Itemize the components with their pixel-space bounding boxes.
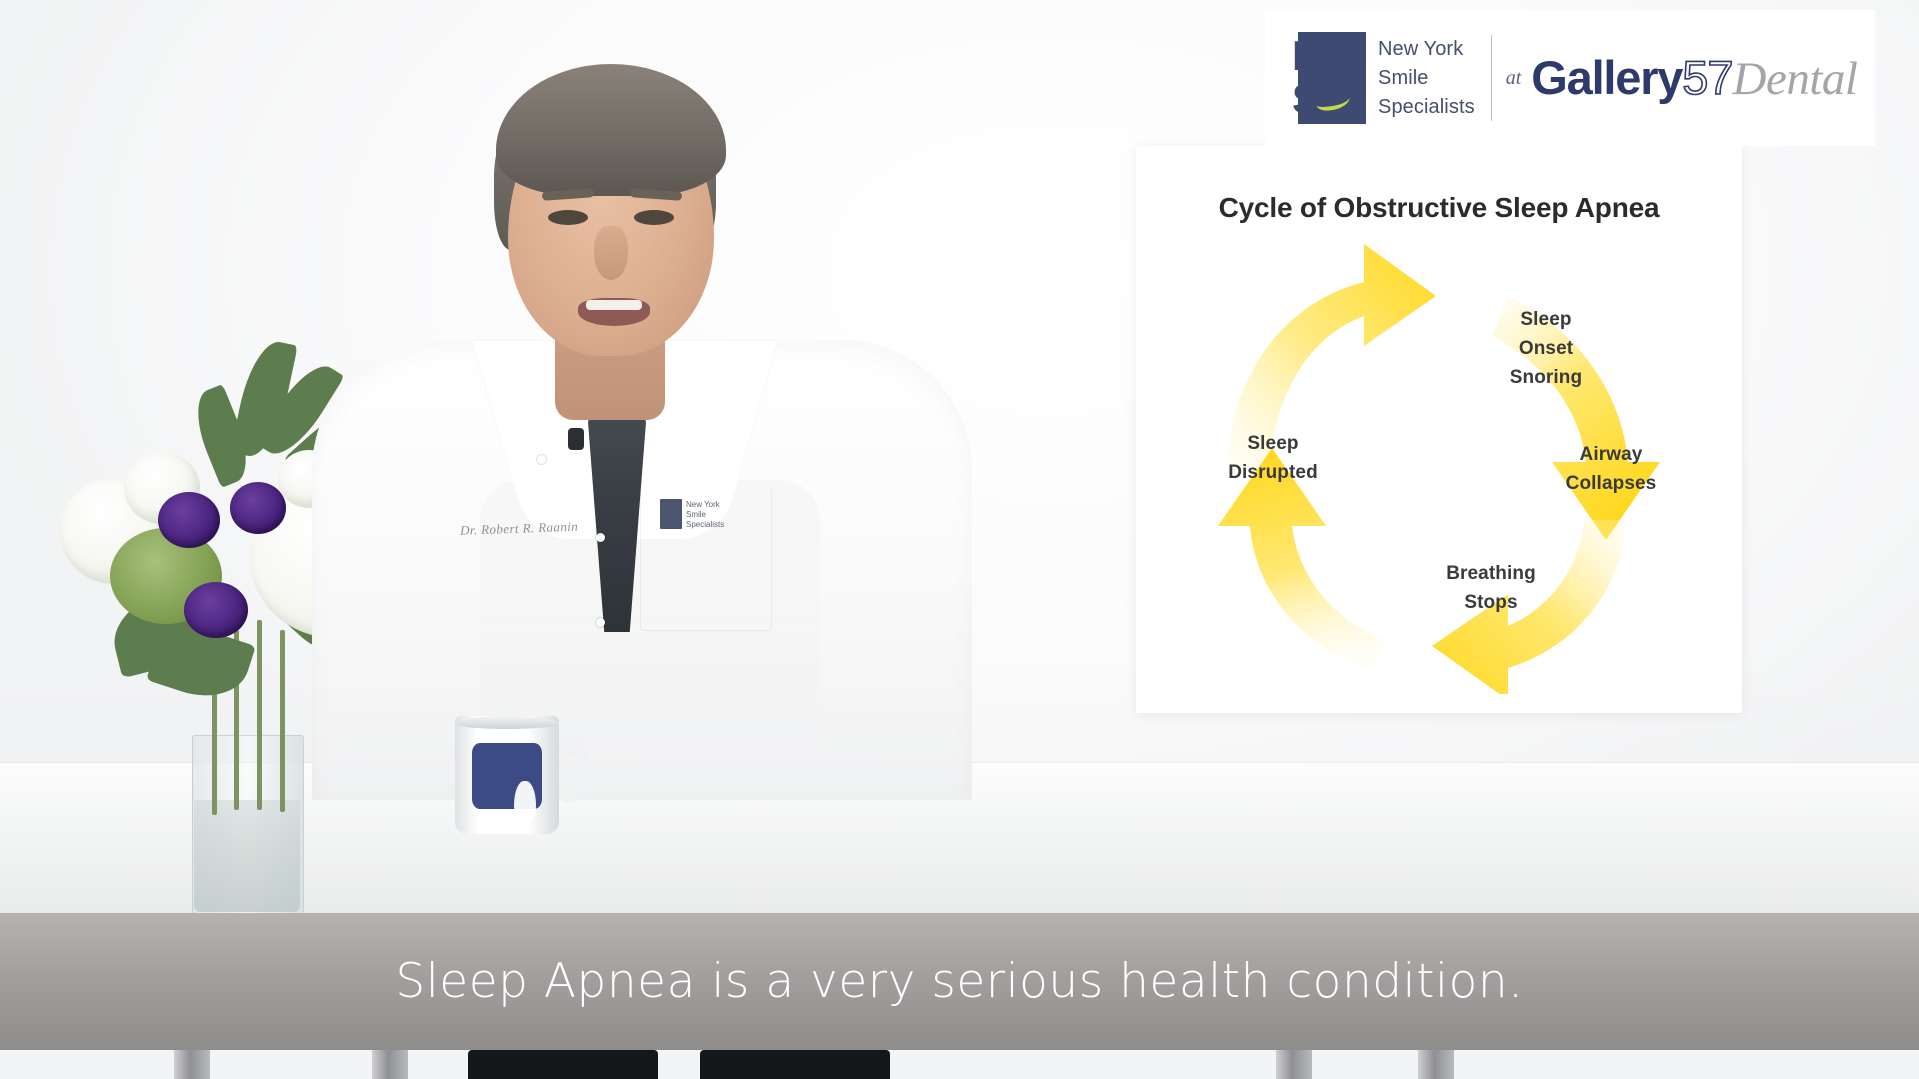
practice-name: New York Smile Specialists xyxy=(1378,35,1475,122)
gallery57dental-wordmark: Gallery 57 Dental xyxy=(1531,50,1857,106)
logo-connector-at: at xyxy=(1506,67,1522,90)
diagram-title: Cycle of Obstructive Sleep Apnea xyxy=(1136,192,1742,224)
nyss-monogram-line-1: NY xyxy=(1292,33,1346,79)
stage-line-2: Collapses xyxy=(1526,469,1696,498)
stage-line-2: Onset xyxy=(1466,334,1626,363)
flower-stem xyxy=(257,620,262,810)
stage-line-2: Disrupted xyxy=(1178,458,1368,487)
mug-logo xyxy=(472,743,542,809)
stage-label-sleep-onset-snoring: Sleep Onset Snoring xyxy=(1466,305,1626,392)
purple-lisianthus xyxy=(158,492,220,548)
stage-line-1: Breathing xyxy=(1406,559,1576,588)
eye xyxy=(634,210,674,225)
stage-line-2: Stops xyxy=(1406,588,1576,617)
desk-leg xyxy=(1418,1045,1454,1079)
presenter-legs xyxy=(468,1050,658,1079)
desk-leg xyxy=(372,1045,408,1079)
coat-button xyxy=(537,455,546,464)
stage-line-1: Airway xyxy=(1526,440,1696,469)
wordmark-57: 57 xyxy=(1682,50,1732,105)
stage-line-1: Sleep xyxy=(1466,305,1626,334)
coat-button xyxy=(596,618,605,627)
coat-button xyxy=(596,533,605,542)
practice-name-line-1: New York xyxy=(1378,35,1475,64)
flower-stem xyxy=(280,630,285,812)
tooth-icon xyxy=(514,781,536,825)
subtitle-bar: Sleep Apnea is a very serious health con… xyxy=(0,913,1919,1050)
lapel-microphone xyxy=(568,428,584,450)
eye xyxy=(548,210,588,225)
purple-lisianthus xyxy=(184,582,248,638)
practice-logo-badge: NY SS New York Smile Specialists at Gall… xyxy=(1265,10,1875,146)
stage-label-sleep-disrupted: Sleep Disrupted xyxy=(1178,429,1368,487)
hair xyxy=(496,64,726,196)
floor xyxy=(0,1050,1919,1079)
coat-logo-block xyxy=(660,499,682,529)
logo-divider xyxy=(1491,35,1492,121)
stage-label-breathing-stops: Breathing Stops xyxy=(1406,559,1576,617)
desk-leg xyxy=(1276,1045,1312,1079)
practice-name-line-2: Smile xyxy=(1378,64,1475,93)
nyss-monogram-icon: NY SS xyxy=(1290,32,1366,124)
wordmark-gallery: Gallery xyxy=(1531,50,1682,105)
nose xyxy=(594,226,628,280)
video-frame: Dr. Robert R. Raanin New York Smile Spec… xyxy=(0,0,1919,1079)
sleep-apnea-cycle-diagram: Cycle of Obstructive Sleep Apnea xyxy=(1136,146,1742,713)
vase-water xyxy=(194,800,300,912)
desk-leg xyxy=(174,1045,210,1079)
coat-logo-line-1: New York xyxy=(686,500,724,510)
presenter-dentist: Dr. Robert R. Raanin New York Smile Spec… xyxy=(330,40,950,780)
coat-logo-line-3: Specialists xyxy=(686,520,724,530)
practice-name-line-3: Specialists xyxy=(1378,93,1475,122)
subtitle-text: Sleep Apnea is a very serious health con… xyxy=(395,954,1523,1009)
coat-logo-line-2: Smile xyxy=(686,510,724,520)
coffee-mug xyxy=(455,716,595,834)
mug-rim xyxy=(455,716,559,729)
wordmark-dental: Dental xyxy=(1733,52,1858,106)
stage-line-3: Snoring xyxy=(1466,363,1626,392)
presenter-legs xyxy=(700,1050,890,1079)
teeth xyxy=(586,300,642,310)
coat-practice-logo: New York Smile Specialists xyxy=(660,499,736,543)
stage-line-1: Sleep xyxy=(1178,429,1368,458)
purple-lisianthus xyxy=(230,482,286,534)
stage-label-airway-collapses: Airway Collapses xyxy=(1526,440,1696,498)
